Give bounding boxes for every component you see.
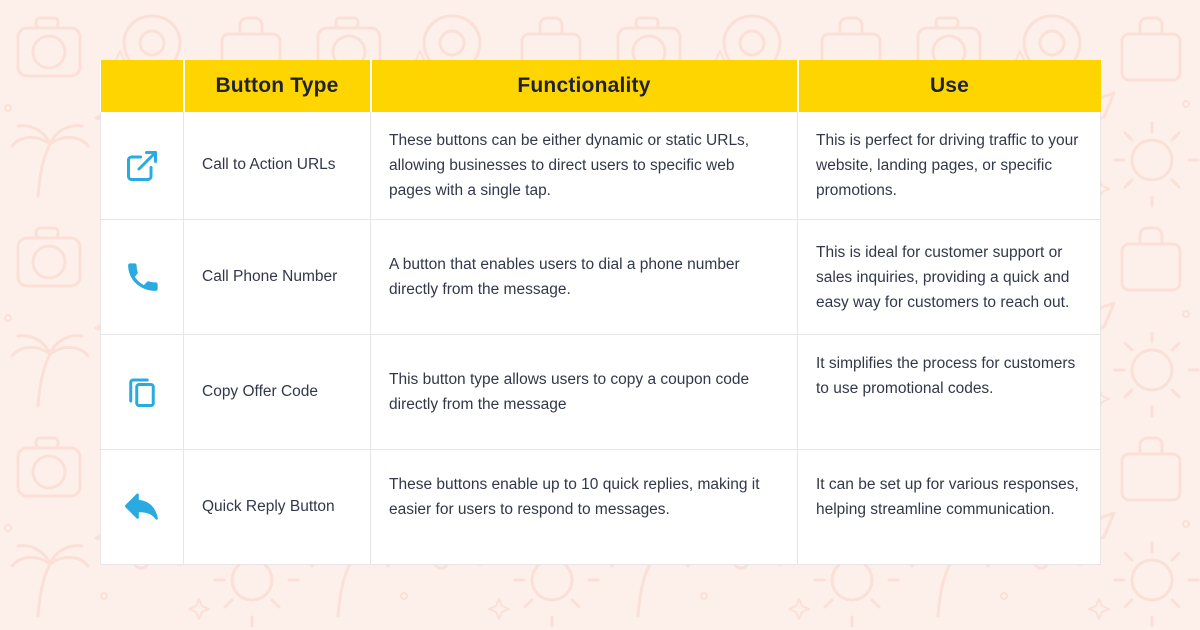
column-header-use: Use xyxy=(798,60,1101,112)
functionality-text: These buttons enable up to 10 quick repl… xyxy=(371,450,798,565)
table-header-row: Button Type Functionality Use xyxy=(101,60,1101,112)
row-icon-cell xyxy=(101,112,184,220)
use-text: It simplifies the process for customers … xyxy=(798,335,1101,450)
functionality-text: This button type allows users to copy a … xyxy=(371,335,798,450)
column-header-functionality: Functionality xyxy=(371,60,798,112)
table-row: Quick Reply Button These buttons enable … xyxy=(101,450,1101,565)
copy-icon xyxy=(124,374,160,410)
button-type-label: Quick Reply Button xyxy=(184,450,371,565)
functionality-text: A button that enables users to dial a ph… xyxy=(371,220,798,335)
external-link-icon xyxy=(124,148,160,184)
button-type-label: Copy Offer Code xyxy=(184,335,371,450)
use-text: This is perfect for driving traffic to y… xyxy=(798,112,1101,220)
row-icon-cell xyxy=(101,335,184,450)
row-icon-cell xyxy=(101,450,184,565)
button-type-label: Call Phone Number xyxy=(184,220,371,335)
table-body: Call to Action URLs These buttons can be… xyxy=(101,112,1101,565)
reply-arrow-icon xyxy=(123,488,161,526)
button-types-table-container: Button Type Functionality Use Call to Ac… xyxy=(100,60,1100,565)
button-types-table: Button Type Functionality Use Call to Ac… xyxy=(100,60,1101,565)
use-text: It can be set up for various responses, … xyxy=(798,450,1101,565)
phone-icon xyxy=(124,259,160,295)
column-header-icon xyxy=(101,60,184,112)
functionality-text: These buttons can be either dynamic or s… xyxy=(371,112,798,220)
button-type-label: Call to Action URLs xyxy=(184,112,371,220)
table-row: Call Phone Number A button that enables … xyxy=(101,220,1101,335)
row-icon-cell xyxy=(101,220,184,335)
table-row: Copy Offer Code This button type allows … xyxy=(101,335,1101,450)
column-header-button-type: Button Type xyxy=(184,60,371,112)
use-text: This is ideal for customer support or sa… xyxy=(798,220,1101,335)
table-row: Call to Action URLs These buttons can be… xyxy=(101,112,1101,220)
table-header: Button Type Functionality Use xyxy=(101,60,1101,112)
